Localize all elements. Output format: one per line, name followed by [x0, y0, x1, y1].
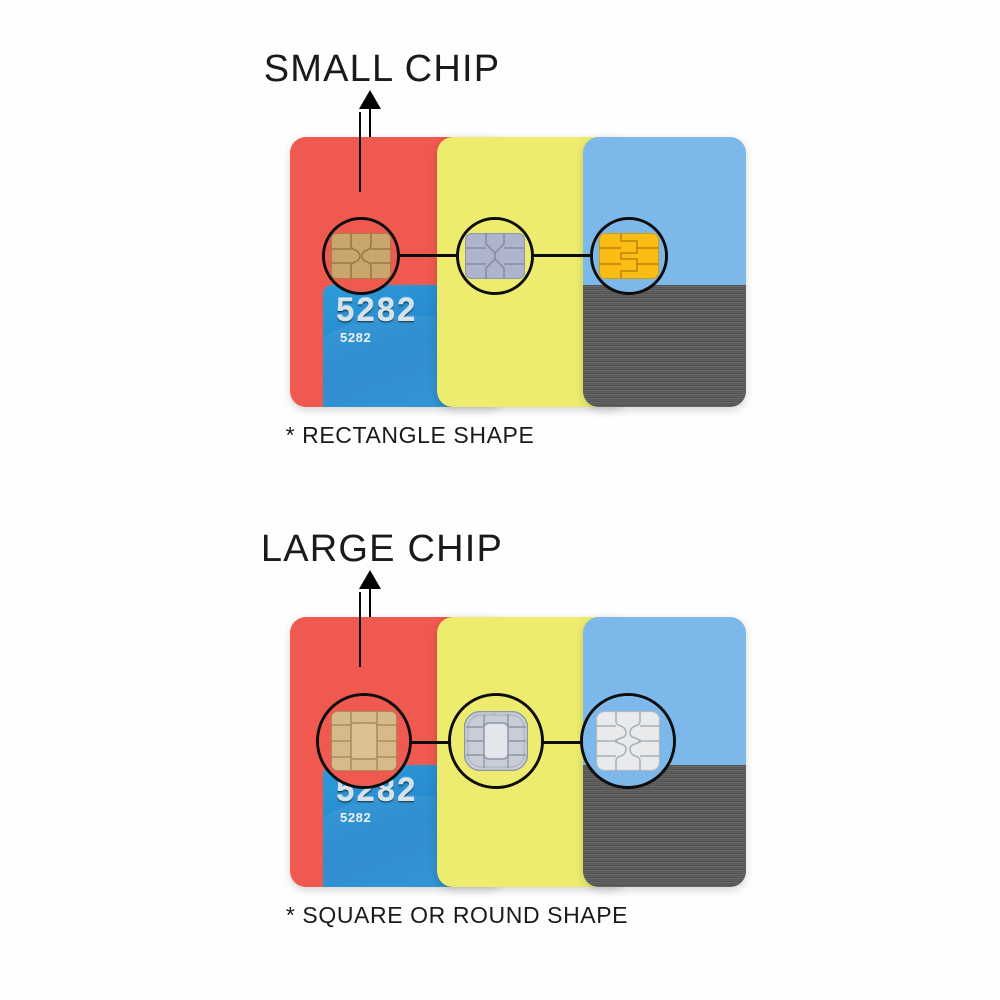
magnifier-silver-rectangle-chip: [456, 217, 534, 295]
magnifier-silver-round-chip: [448, 693, 544, 789]
gold-rectangle-chip-icon: [331, 233, 391, 279]
magnifier-white-square-chip: [580, 693, 676, 789]
magnifier-yellow-rectangle-chip: [590, 217, 668, 295]
magnifier-gold-square-chip: [316, 693, 412, 789]
magnifier-gold-rectangle-chip: [322, 217, 400, 295]
yellow-rectangle-chip-icon: [599, 233, 659, 279]
pointer-stem: [359, 112, 361, 192]
caption-rectangle-shape: * RECTANGLE SHAPE: [0, 422, 1000, 449]
gold-square-chip-icon: [331, 711, 397, 771]
magnetic-stripe: [583, 285, 746, 407]
card-group-small-chip: 52825 5282 VALID THRU: [290, 137, 746, 407]
section-heading-small-chip: SMALL CHIP: [0, 48, 1000, 91]
pointer-stem: [359, 592, 361, 667]
caption-square-round-shape: * SQUARE OR ROUND SHAPE: [0, 902, 1000, 929]
section-heading-large-chip: LARGE CHIP: [0, 528, 1000, 571]
card-last-four: 5282: [340, 330, 371, 345]
diagram-canvas: SMALL CHIP 52825 5282 VALID THRU: [0, 0, 1000, 1000]
silver-rectangle-chip-icon: [465, 233, 525, 279]
card-last-four: 5282: [340, 810, 371, 825]
silver-round-chip-icon: [464, 711, 528, 771]
card-group-large-chip: 52825 5282 VALID THRU: [290, 617, 746, 887]
white-square-chip-icon: [596, 711, 660, 771]
